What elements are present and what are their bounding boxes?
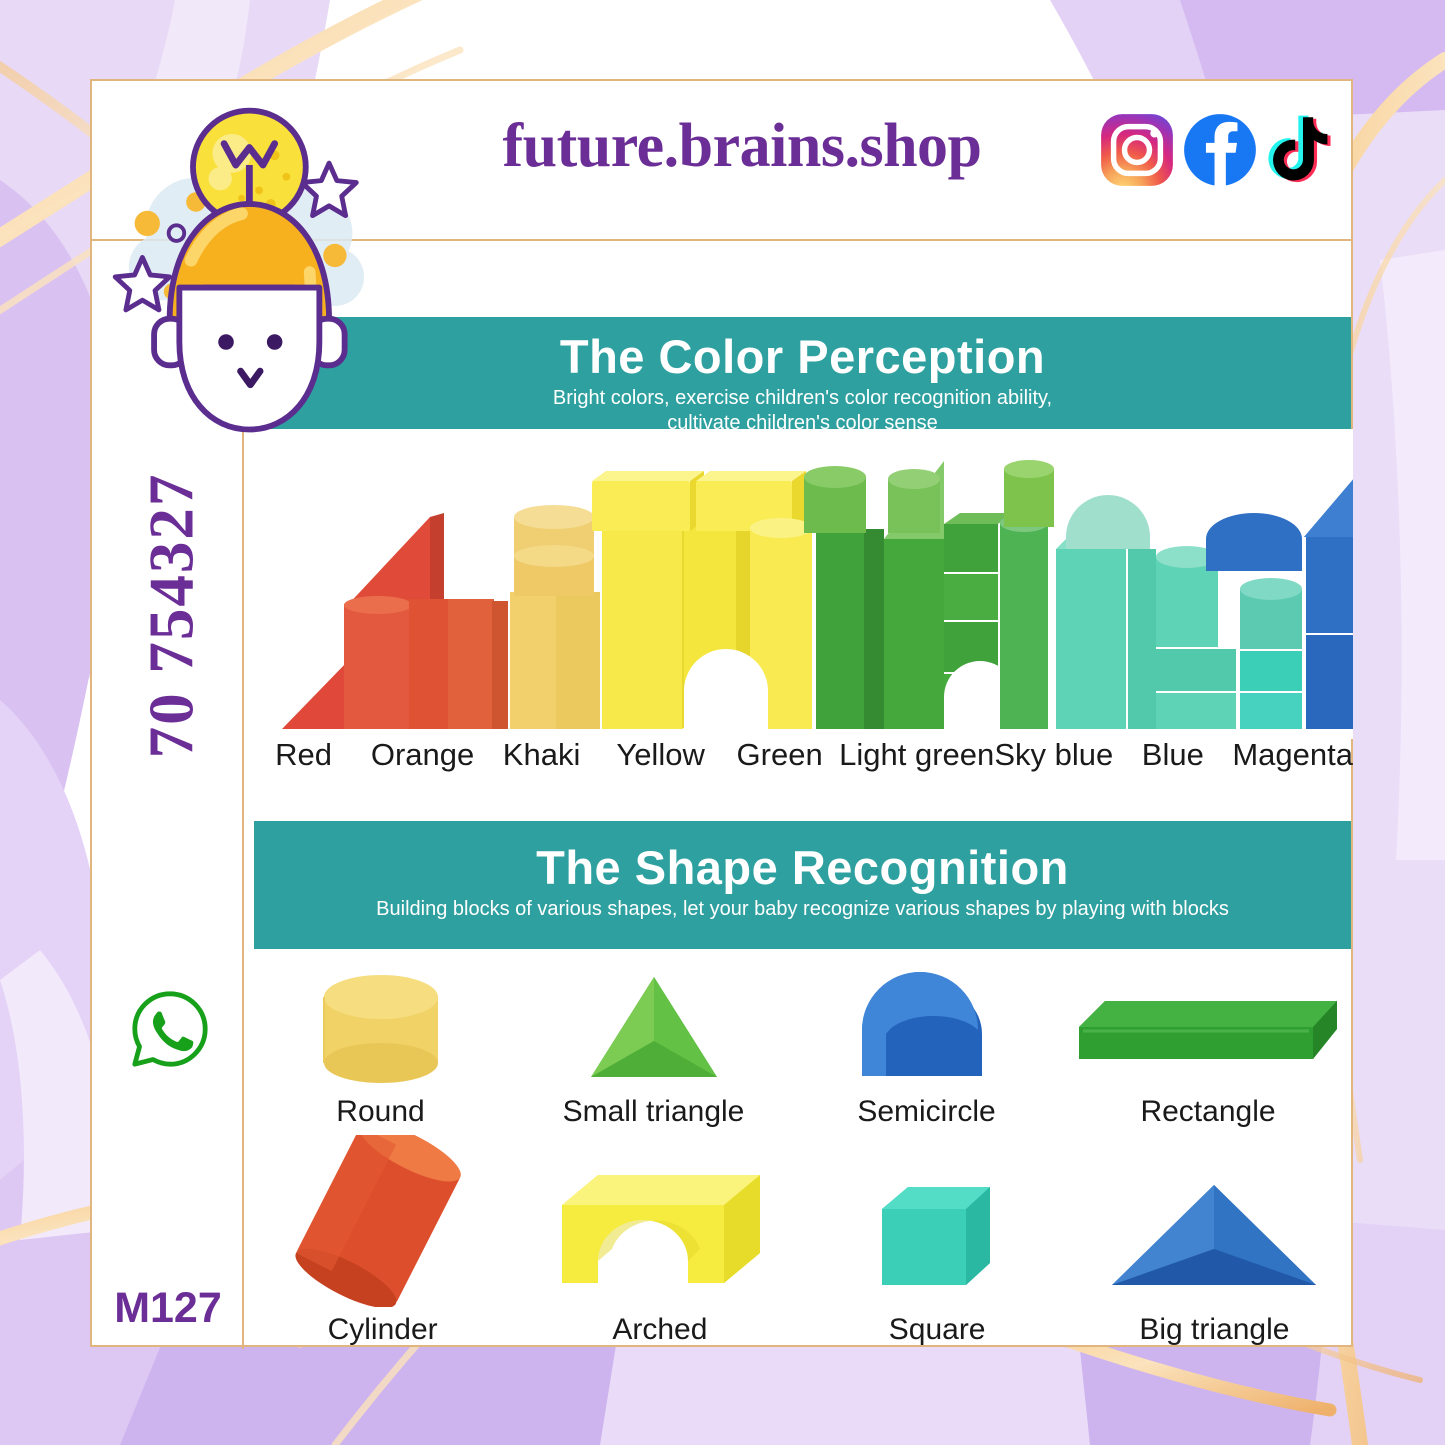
- shape-row-second: Cylinder Arched: [244, 1139, 1353, 1347]
- shape-item-small-triangle: Small triangle: [517, 957, 790, 1129]
- lightbulb-head-child-icon: [102, 97, 387, 447]
- shape-label-round: Round: [336, 1095, 424, 1129]
- shape-item-semicircle: Semicircle: [790, 957, 1063, 1129]
- shape-label-cylinder: Cylinder: [328, 1313, 438, 1347]
- social-links[interactable]: [1098, 111, 1342, 189]
- square-block-icon: [862, 1167, 1012, 1307]
- color-label-yellow: Yellow: [601, 737, 720, 787]
- shape-row-first: Round Small triangle: [244, 957, 1353, 1129]
- color-label-blue: Blue: [1113, 737, 1232, 787]
- shape-label-square: Square: [889, 1313, 986, 1347]
- shape-label-rectangle: Rectangle: [1140, 1095, 1275, 1129]
- round-cylinder-block-icon: [306, 967, 456, 1089]
- shape-label-arched: Arched: [612, 1313, 707, 1347]
- shape-item-cylinder: Cylinder: [244, 1139, 521, 1347]
- shape-item-square: Square: [799, 1139, 1076, 1347]
- color-label-row: Red Orange Khaki Yellow Green Light gree…: [244, 737, 1353, 787]
- shape-art-big-triangle: [1076, 1139, 1353, 1307]
- arched-block-icon: [540, 1157, 780, 1307]
- rainbow-blocks-photo: [244, 429, 1353, 739]
- color-label-light-green: Light green: [839, 737, 994, 787]
- tiktok-icon[interactable]: [1264, 111, 1342, 189]
- product-info-card: future.brains.shop: [90, 79, 1353, 1347]
- main-content: The Color Perception Bright colors, exer…: [244, 239, 1353, 1349]
- cylinder-block-icon: [268, 1135, 498, 1307]
- shape-art-semicircle: [790, 957, 1063, 1089]
- shape-item-rectangle: Rectangle: [1063, 957, 1353, 1129]
- shape-section-title: The Shape Recognition: [254, 843, 1351, 892]
- shape-art-rectangle: [1063, 957, 1353, 1089]
- shape-recognition-banner: The Shape Recognition Building blocks of…: [254, 821, 1351, 949]
- shape-art-small-triangle: [517, 957, 790, 1089]
- big-triangle-block-icon: [1094, 1167, 1334, 1307]
- color-label-green: Green: [720, 737, 839, 787]
- shape-item-big-triangle: Big triangle: [1076, 1139, 1353, 1347]
- sku-code: M127: [92, 1284, 244, 1333]
- color-label-sky-blue: Sky blue: [994, 737, 1113, 787]
- shape-art-cylinder: [244, 1135, 521, 1307]
- shape-label-big-triangle: Big triangle: [1139, 1313, 1289, 1347]
- semicircle-block-icon: [846, 964, 1008, 1089]
- facebook-icon[interactable]: [1181, 111, 1259, 189]
- shape-art-square: [799, 1139, 1076, 1307]
- shape-section-subtitle: Building blocks of various shapes, let y…: [254, 897, 1351, 922]
- color-perception-banner: The Color Perception Bright colors, exer…: [254, 317, 1351, 447]
- color-section-title: The Color Perception: [254, 332, 1351, 381]
- small-triangle-block-icon: [573, 967, 735, 1089]
- shape-art-arched: [521, 1139, 798, 1307]
- shape-item-arched: Arched: [521, 1139, 798, 1347]
- shape-art-round: [244, 957, 517, 1089]
- color-label-khaki: Khaki: [482, 737, 601, 787]
- shape-label-semicircle: Semicircle: [857, 1095, 995, 1129]
- whatsapp-icon[interactable]: [130, 989, 210, 1069]
- shape-label-small-triangle: Small triangle: [563, 1095, 745, 1129]
- instagram-icon[interactable]: [1098, 111, 1176, 189]
- color-label-orange: Orange: [363, 737, 482, 787]
- color-label-magenta: Magenta: [1232, 737, 1353, 787]
- shape-item-round: Round: [244, 957, 517, 1129]
- rectangle-block-icon: [1063, 967, 1353, 1089]
- color-label-red: Red: [244, 737, 363, 787]
- site-title: future.brains.shop: [412, 111, 1072, 182]
